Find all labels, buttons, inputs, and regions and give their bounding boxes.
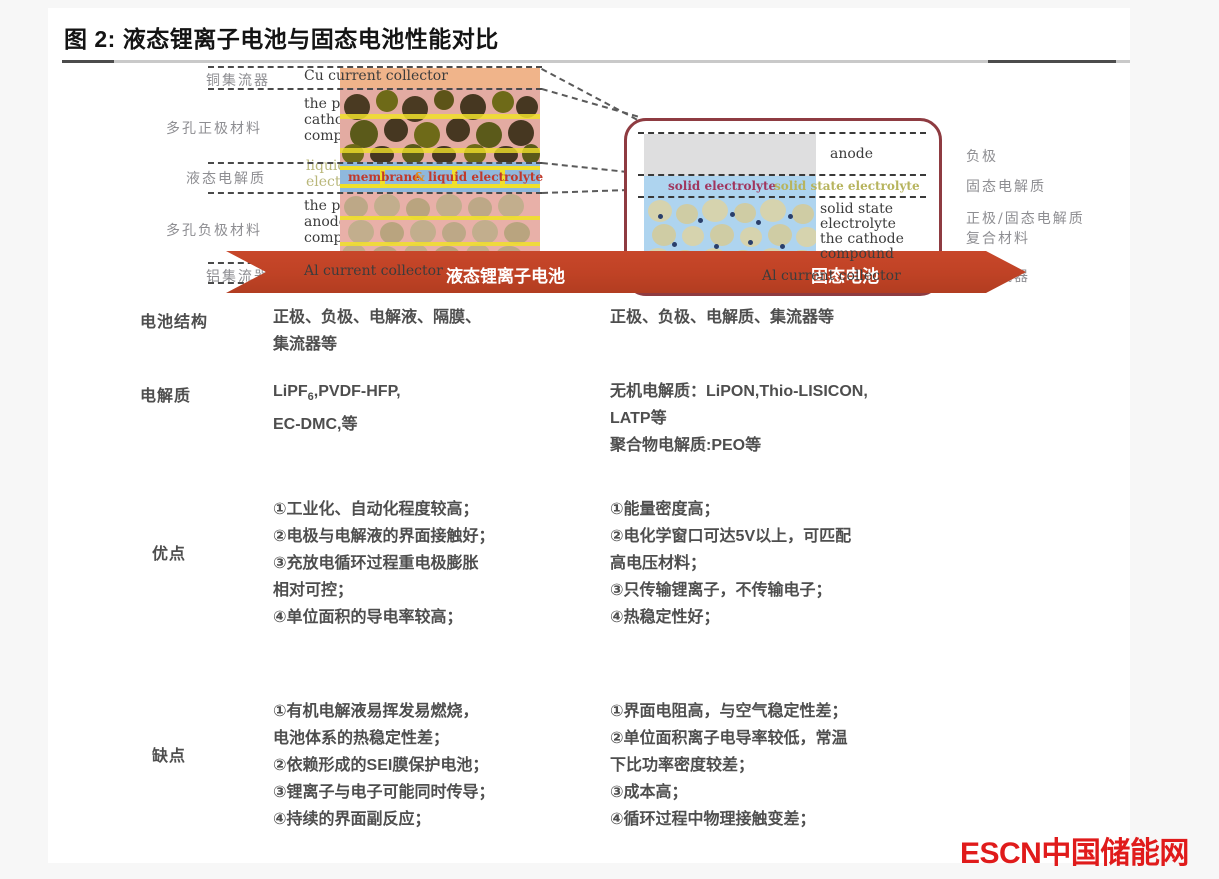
ss-en-al-collector: Al current collector xyxy=(762,268,901,284)
table-row: 缺点 ①有机电解液易挥发易燃烧， 电池体系的热稳定性差； ②依赖形成的SEI膜保… xyxy=(48,666,1130,846)
cell-electrolyte-solid: 无机电解质：LiPON,Thio-LISICON, LATP等 聚合物电解质:P… xyxy=(610,378,1010,459)
ss-cn-anode: 负极 xyxy=(966,146,998,166)
layer-porous-cathode xyxy=(340,88,540,162)
row-label-electrolyte: 电解质 xyxy=(140,382,191,406)
tag-membrane: membrane xyxy=(348,170,420,184)
table-row: 优点 ①工业化、自动化程度较高； ②电极与电解液的界面接触好； ③充放电循环过程… xyxy=(48,476,1130,666)
ss-dash-3 xyxy=(638,196,926,198)
ss-cn-composite-2: 复合材料 xyxy=(966,228,1030,248)
cell-electrolyte-liquid: LiPF6,PVDF-HFP, EC-DMC,等 xyxy=(273,378,603,438)
cell-structure-liquid: 正极、负极、电解液、隔膜、 集流器等 xyxy=(273,304,603,358)
ss-tag-solid-state-electrolyte: solid state electrolyte xyxy=(774,179,920,193)
ss-cn-composite: 正极/固态电解质 xyxy=(966,208,1085,228)
diagram-en-cu-collector: Cu current collector xyxy=(304,68,448,84)
ss-en-cathode-compound: solid stateelectrolytethe cathodecompoun… xyxy=(820,202,904,262)
tag-ampersand: & xyxy=(414,170,425,184)
diagram-dash-3 xyxy=(208,162,542,164)
cell-disadvantages-liquid: ①有机电解液易挥发易燃烧， 电池体系的热稳定性差； ②依赖形成的SEI膜保护电池… xyxy=(273,698,603,833)
escn-watermark: ESCN中国储能网 xyxy=(960,828,1189,872)
page-title: 图 2: 液态锂离子电池与固态电池性能对比 xyxy=(64,20,499,54)
diagram-en-al-collector: Al current collector xyxy=(304,263,443,279)
cell-structure-solid: 正极、负极、电解质、集流器等 xyxy=(610,304,1010,331)
figure-card: 图 2: 液态锂离子电池与固态电池性能对比 铜集流器 多孔正极材料 液态电解质 … xyxy=(48,8,1130,863)
row-label-disadvantages: 缺点 xyxy=(152,742,186,766)
table-row: 电池结构 正极、负极、电解液、隔膜、 集流器等 正极、负极、电解质、集流器等 xyxy=(48,296,1130,366)
cell-disadvantages-solid: ①界面电阻高，与空气稳定性差； ②单位面积离子电导率较低，常温 下比功率密度较差… xyxy=(610,698,1010,833)
diagram-dash-2 xyxy=(208,88,542,90)
ss-dash-2 xyxy=(638,174,926,176)
row-label-structure: 电池结构 xyxy=(140,308,208,332)
ss-layer-anode xyxy=(644,134,816,176)
tag-liquid-electrolyte: liquid electrolyte xyxy=(428,170,543,184)
row-label-advantages: 优点 xyxy=(152,540,186,564)
comparison-table: 电池结构 正极、负极、电解液、隔膜、 集流器等 正极、负极、电解质、集流器等 电… xyxy=(48,296,1130,846)
ss-tag-solid-electrolyte: solid electrolyte xyxy=(668,179,776,193)
ss-en-anode: anode xyxy=(830,146,873,162)
ss-cn-solid-electrolyte: 固态电解质 xyxy=(966,176,1046,196)
ss-dash-1 xyxy=(638,132,926,134)
diagram-left-label-cu-collector: 铜集流器 xyxy=(206,70,270,90)
table-row: 电解质 LiPF6,PVDF-HFP, EC-DMC,等 无机电解质：LiPON… xyxy=(48,366,1130,476)
cell-advantages-liquid: ①工业化、自动化程度较高； ②电极与电解液的界面接触好； ③充放电循环过程重电极… xyxy=(273,496,603,631)
cell-advantages-solid: ①能量密度高； ②电化学窗口可达5V以上，可匹配 高电压材料； ③只传输锂离子，… xyxy=(610,496,1010,631)
diagram-left-label-electrolyte: 液态电解质 xyxy=(186,168,266,188)
electrolyte-lipf6: LiPF6,PVDF-HFP, xyxy=(273,378,603,411)
diagram-left-label-anode: 多孔负极材料 xyxy=(166,220,262,240)
diagram-dash-4 xyxy=(208,192,542,194)
diagram-left-label-cathode: 多孔正极材料 xyxy=(166,118,262,138)
banner-label-liquid: 液态锂离子电池 xyxy=(446,262,565,287)
